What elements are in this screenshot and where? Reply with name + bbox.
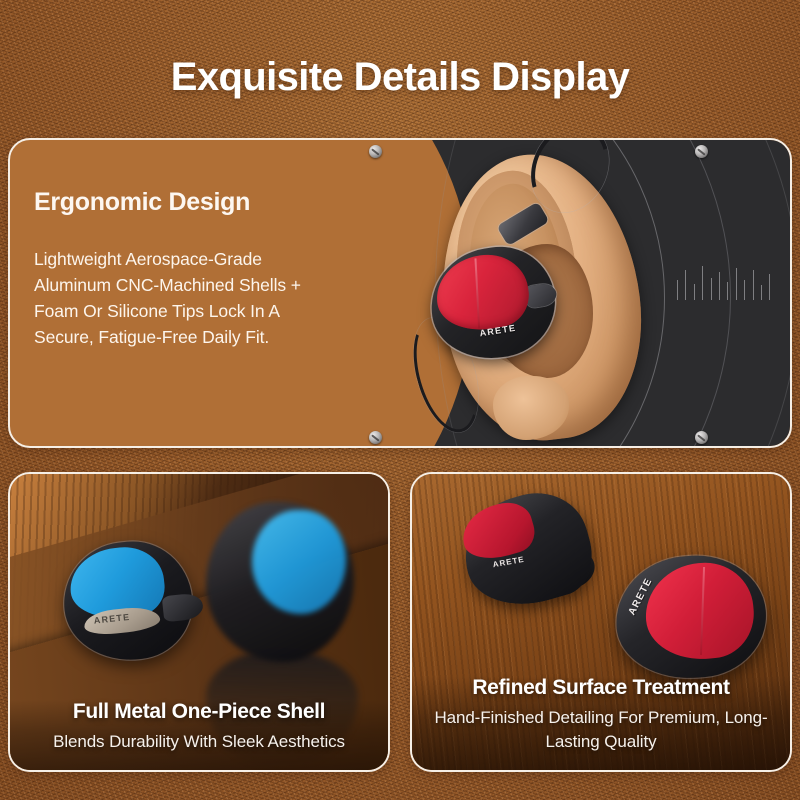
- earphone-red-left: ARETE: [452, 481, 603, 620]
- ergonomic-heading: Ergonomic Design: [34, 188, 320, 217]
- ergonomic-body-text: Lightweight Aerospace-Grade Aluminum CNC…: [34, 247, 320, 351]
- page-title: Exquisite Details Display: [0, 55, 800, 100]
- product-detail-page: Exquisite Details Display: [0, 0, 800, 800]
- shell-caption-title: Full Metal One-Piece Shell: [26, 700, 372, 724]
- ruler-tick: [753, 270, 754, 300]
- earphone-blue-background: [206, 502, 354, 662]
- ruler-tick: [744, 280, 745, 300]
- ergonomic-photo: ARETE: [285, 140, 790, 446]
- ergonomic-copy-block: Ergonomic Design Lightweight Aerospace-G…: [10, 140, 340, 446]
- card-refined-surface: ARETE ARETE Refined Surface Treatment Ha…: [410, 472, 792, 772]
- earphone-faceplate: [252, 510, 346, 614]
- ruler-tick: [727, 282, 728, 300]
- surface-caption: Refined Surface Treatment Hand-Finished …: [412, 676, 790, 770]
- surface-caption-title: Refined Surface Treatment: [428, 676, 774, 700]
- shell-caption: Full Metal One-Piece Shell Blends Durabi…: [10, 700, 388, 770]
- card-ergonomic-design: ARETE Ergonomic Design Lightweight Aeros…: [8, 138, 792, 448]
- earphone-in-ear: ARETE: [423, 239, 563, 367]
- ruler-tick: [761, 285, 762, 300]
- screw-icon: [369, 145, 382, 158]
- surface-caption-subtitle: Hand-Finished Detailing For Premium, Lon…: [428, 706, 774, 754]
- shell-caption-subtitle: Blends Durability With Sleek Aesthetics: [26, 730, 372, 754]
- card-full-metal-shell: ARETE Full Metal One-Piece Shell Blends …: [8, 472, 390, 772]
- ruler-tick: [736, 268, 737, 300]
- earphone-blue-foreground: ARETE: [58, 536, 198, 667]
- ruler-tick: [769, 274, 770, 300]
- screw-icon: [369, 431, 382, 444]
- ear-model-illustration: ARETE: [397, 148, 727, 446]
- earphone-red-right: ARETE: [611, 550, 771, 685]
